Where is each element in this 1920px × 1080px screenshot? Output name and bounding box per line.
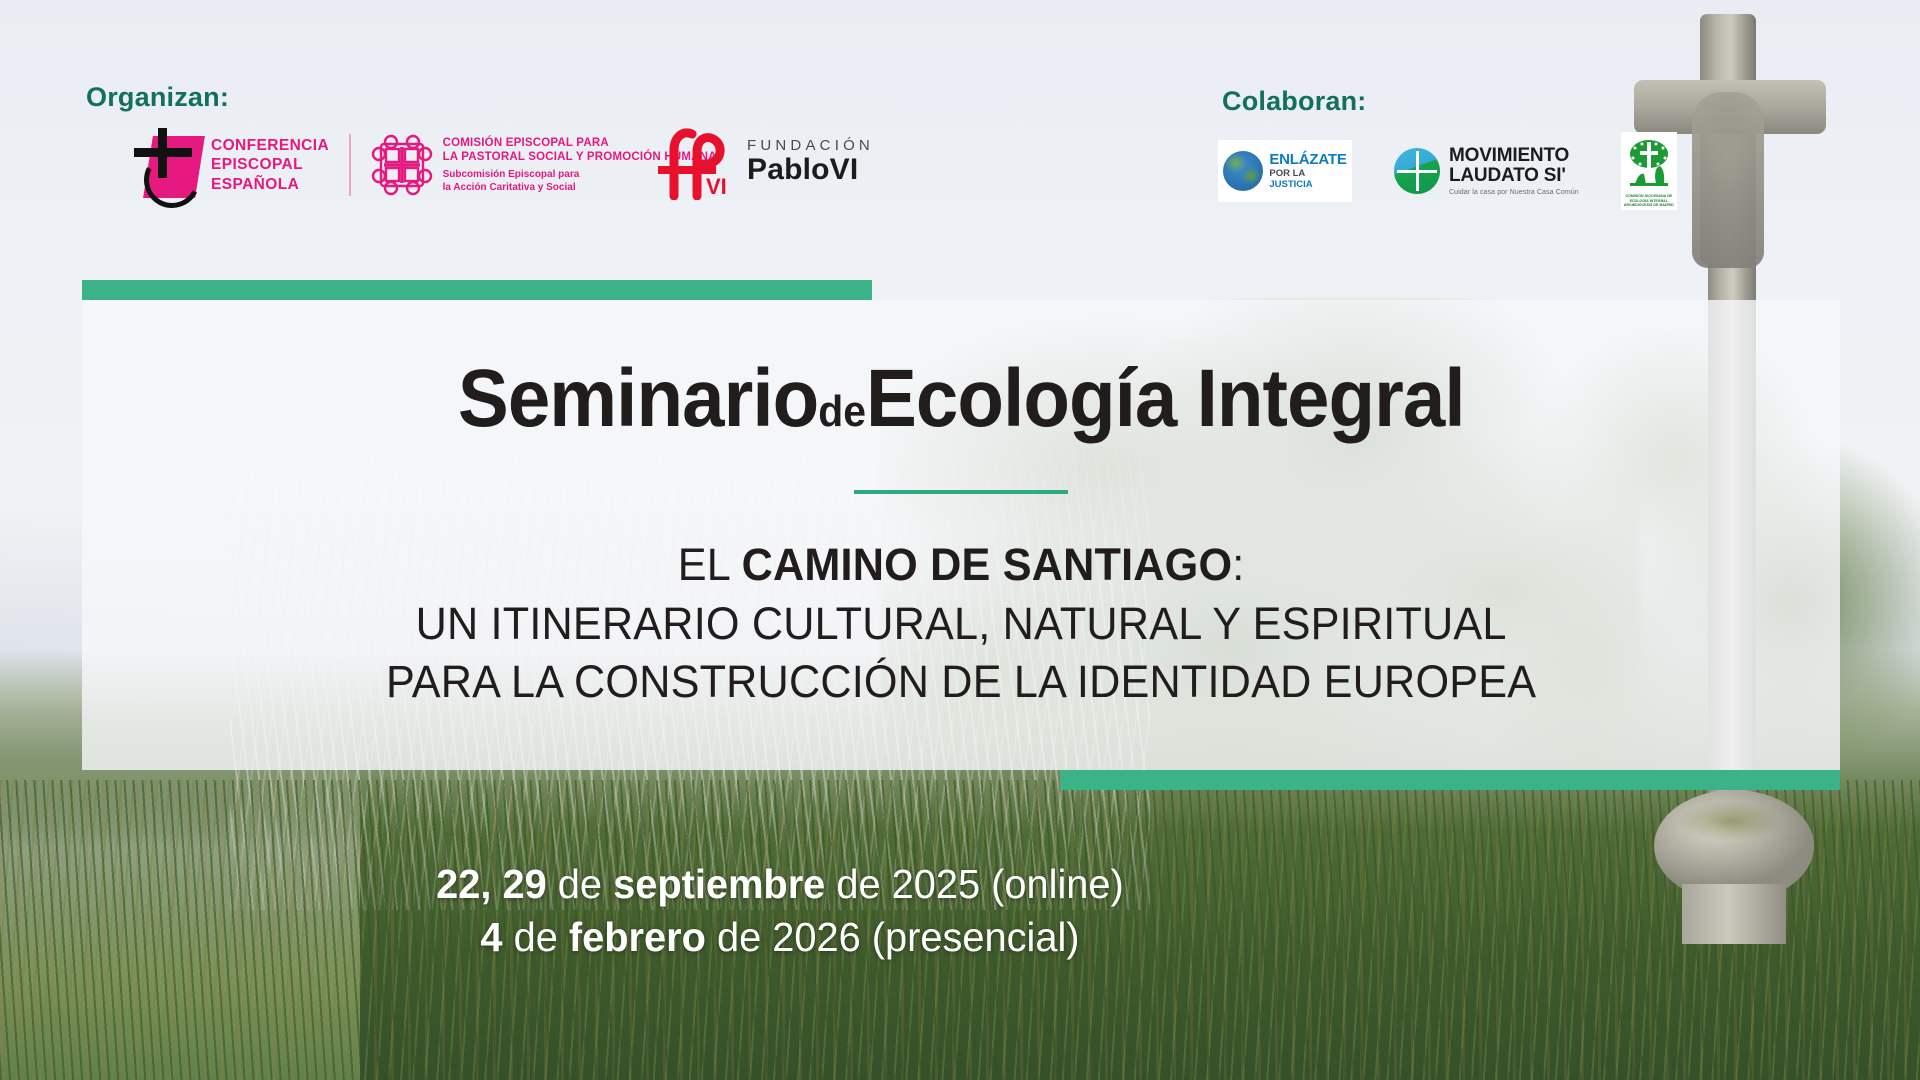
- date-line-1-days: 22, 29: [436, 861, 547, 907]
- laudato-line-a: MOVIMIENTO: [1449, 146, 1579, 166]
- logo-strip: Organizan: CONFERENCIA EPISCOPAL ESPAÑOL…: [0, 0, 1920, 232]
- content-panel: SeminariodeEcología Integral EL CAMINO D…: [82, 300, 1840, 770]
- page-title: SeminariodeEcología Integral: [458, 352, 1465, 446]
- laudato-globe-icon: [1394, 148, 1440, 194]
- accent-bar-bottom: [1060, 770, 1840, 790]
- svg-text:VI: VI: [706, 174, 727, 199]
- fpvi-line-large: PabloVI: [747, 154, 874, 186]
- date-line-2-month: febrero: [569, 914, 706, 960]
- title-de: de: [818, 387, 866, 436]
- enlazate-line-b-strong: JUSTICIA: [1269, 179, 1312, 190]
- cee-line-2: EPISCOPAL: [211, 155, 329, 174]
- date-line-1-year: de 2025 (online): [825, 861, 1124, 907]
- organizers-logos: CONFERENCIA EPISCOPAL ESPAÑOLA: [128, 128, 717, 202]
- green-cross-logo-icon: [1626, 138, 1672, 192]
- logo-movimiento-laudato-si: MOVIMIENTO LAUDATO SI' Cuidar la casa po…: [1394, 146, 1579, 196]
- logo-enlazate-por-la-justicia: ENLÁZATE POR LA JUSTICIA: [1218, 140, 1352, 202]
- collaborators-logos: ENLÁZATE POR LA JUSTICIA MOVIMIENTO LAUD…: [1218, 132, 1677, 210]
- globe-icon: [1223, 151, 1263, 191]
- cee-line-1: CONFERENCIA: [211, 136, 329, 155]
- event-poster: Organizan: CONFERENCIA EPISCOPAL ESPAÑOL…: [0, 0, 1920, 1080]
- fpvi-line-small: FUNDACIÓN: [747, 137, 874, 154]
- title-divider: [854, 490, 1068, 494]
- logo-green-cross-commission: COMISIÓN DIOCESANA DE ECOLOGÍA INTEGRAL …: [1621, 132, 1677, 210]
- ceps-grid-logo-icon: [371, 134, 433, 196]
- subtitle-line-1-prefix: EL: [678, 539, 742, 590]
- logo-fundacion-pablo-vi: VI FUNDACIÓN PabloVI: [650, 122, 874, 200]
- date-line-1-de: de: [547, 861, 613, 907]
- cee-line-3: ESPAÑOLA: [211, 175, 329, 194]
- subtitle-line-1: EL CAMINO DE SANTIAGO:: [386, 536, 1536, 595]
- cruceiro-base: [1682, 884, 1786, 944]
- enlazate-text: ENLÁZATE POR LA JUSTICIA: [1269, 152, 1346, 191]
- enlazate-line-b: POR LA JUSTICIA: [1269, 168, 1346, 191]
- laudato-line-b: LAUDATO SI': [1449, 166, 1579, 186]
- fpvi-logo-text: FUNDACIÓN PabloVI: [747, 137, 874, 186]
- enlazate-line-a: ENLÁZATE: [1269, 152, 1346, 167]
- cee-logo-text: CONFERENCIA EPISCOPAL ESPAÑOLA: [211, 136, 329, 194]
- title-part-2: Ecología Integral: [866, 353, 1465, 444]
- date-line-2-de: de: [503, 914, 569, 960]
- logo-conferencia-episcopal-espanola: CONFERENCIA EPISCOPAL ESPAÑOLA: [128, 128, 329, 202]
- fpvi-monogram-icon: VI: [650, 122, 736, 200]
- title-part-1: Seminario: [458, 353, 818, 444]
- date-line-2: 4 de febrero de 2026 (presencial): [23, 911, 1536, 964]
- accent-bar-top: [82, 280, 872, 300]
- date-line-1: 22, 29 de septiembre de 2025 (online): [23, 858, 1536, 911]
- subtitle-line-2: UN ITINERARIO CULTURAL, NATURAL Y ESPIRI…: [386, 595, 1536, 654]
- organizers-label: Organizan:: [86, 82, 229, 113]
- laudato-tagline: Cuidar la casa por Nuestra Casa Común: [1449, 189, 1579, 196]
- event-dates: 22, 29 de septiembre de 2025 (online) 4 …: [23, 858, 1536, 965]
- enlazate-line-b-prefix: POR LA: [1269, 168, 1305, 179]
- collaborators-label: Colaboran:: [1222, 86, 1367, 117]
- cee-cross-logo-icon: [128, 128, 202, 202]
- date-line-2-day: 4: [480, 914, 502, 960]
- laudato-text: MOVIMIENTO LAUDATO SI' Cuidar la casa po…: [1449, 146, 1579, 196]
- subtitle-line-3: PARA LA CONSTRUCCIÓN DE LA IDENTIDAD EUR…: [386, 653, 1536, 712]
- date-line-2-year: de 2026 (presencial): [706, 914, 1080, 960]
- date-line-1-month: septiembre: [613, 861, 825, 907]
- cruceiro-moss: [1670, 798, 1790, 844]
- subtitle-line-1-suffix: :: [1232, 539, 1244, 590]
- event-subtitle: EL CAMINO DE SANTIAGO: UN ITINERARIO CUL…: [386, 536, 1536, 712]
- subtitle-line-1-bold: CAMINO DE SANTIAGO: [741, 539, 1232, 590]
- green-cross-caption: COMISIÓN DIOCESANA DE ECOLOGÍA INTEGRAL …: [1621, 194, 1677, 208]
- logo-divider: [349, 134, 351, 196]
